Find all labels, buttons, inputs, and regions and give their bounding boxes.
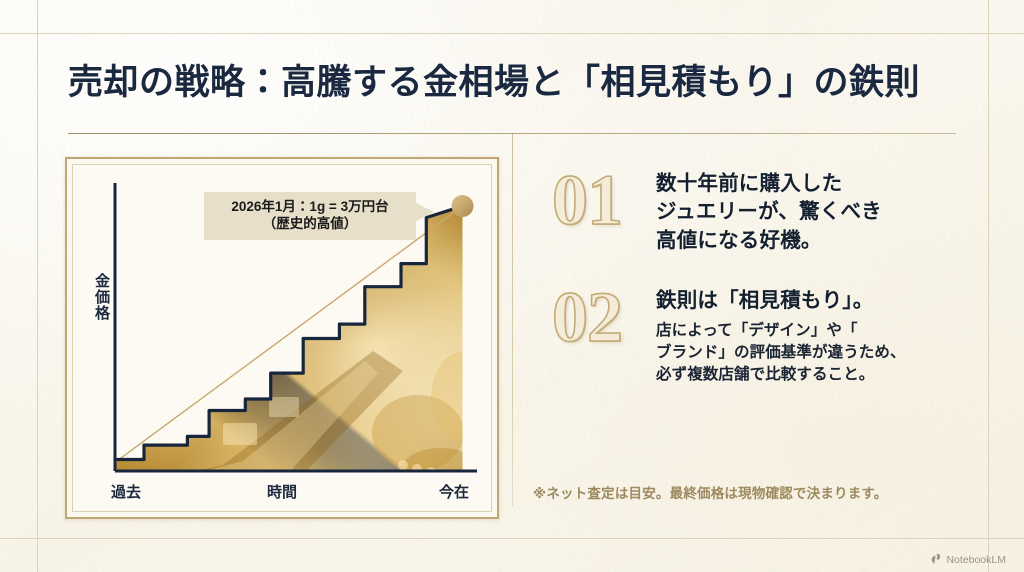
chart-x-axis-labels: 過去 時間 今在 (73, 481, 491, 503)
notebooklm-watermark: NotebookLM (930, 554, 1006, 566)
column-divider (512, 134, 513, 506)
list-item: 01 数十年前に購入したジュエリーが、驚くべき高値になる好機。 (528, 166, 988, 255)
list-item: 02 鉄則は「相見積もり」。 店によって「デザイン」や「ブランド」の評価基準が違… (528, 283, 988, 386)
x-label-time: 時間 (267, 481, 297, 502)
point-body-02: 鉄則は「相見積もり」。 店によって「デザイン」や「ブランド」の評価基準が違うため… (656, 283, 988, 386)
chart-end-marker (452, 195, 474, 217)
frame-line-right (988, 0, 989, 572)
chart-inner: 2026年1月：1g = 3万円台 （歴史的高値） 金価格 過去 時間 今在 (72, 164, 492, 512)
footnote: ※ネット査定は目安。最終価格は現物確認で決まります。 (533, 482, 983, 502)
point-heading-02: 鉄則は「相見積もり」。 (656, 287, 988, 315)
chart-panel: 2026年1月：1g = 3万円台 （歴史的高値） 金価格 過去 時間 今在 (65, 157, 499, 519)
callout-tail (416, 203, 434, 221)
slide-root: 売却の戦略：高騰する金相場と「相見積もり」の鉄則 (0, 0, 1024, 572)
page-title: 売却の戦略：高騰する金相場と「相見積もり」の鉄則 (68, 54, 968, 105)
x-label-now: 今在 (439, 481, 469, 502)
points-list: 01 数十年前に購入したジュエリーが、驚くべき高値になる好機。 02 鉄則は「相… (528, 166, 988, 386)
frame-line-bottom (0, 538, 1024, 539)
frame-line-left (37, 0, 38, 572)
x-label-past: 過去 (111, 481, 141, 502)
annotation-line-1: 2026年1月：1g = 3万円台 (212, 198, 408, 215)
point-heading-01: 数十年前に購入したジュエリーが、驚くべき高値になる好機。 (656, 170, 988, 255)
chart-annotation: 2026年1月：1g = 3万円台 （歴史的高値） (204, 192, 416, 240)
chart-y-axis-label: 金価格 (91, 273, 112, 321)
notebooklm-icon (930, 554, 942, 566)
annotation-line-2: （歴史的高値） (212, 215, 408, 232)
point-number-01: 01 (528, 166, 646, 234)
point-subtext-02: 店によって「デザイン」や「ブランド」の評価基準が違うため、必ず複数店舗で比較する… (656, 320, 988, 386)
point-number-02: 02 (528, 283, 646, 351)
point-body-01: 数十年前に購入したジュエリーが、驚くべき高値になる好機。 (656, 166, 988, 255)
frame-line-top (0, 33, 1024, 34)
watermark-label: NotebookLM (946, 554, 1006, 566)
